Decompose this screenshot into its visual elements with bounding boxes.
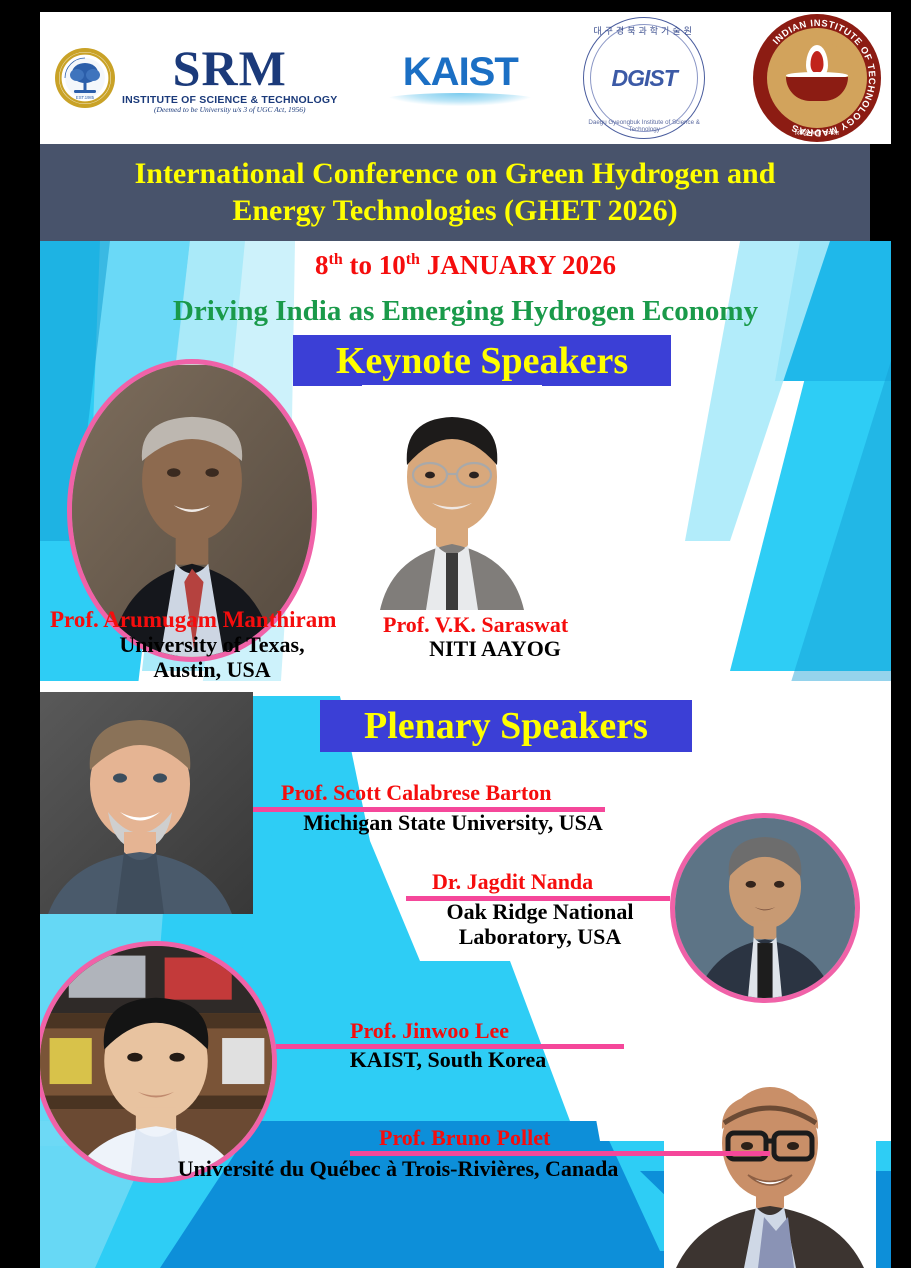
date-suffix: JANUARY 2026	[420, 250, 616, 280]
photo-jinwoo-lee	[40, 941, 277, 1183]
keynote-speakers-banner: Keynote Speakers	[293, 335, 671, 386]
plenary-4-affiliation-line1: Université du Québec à Trois-Rivières, C…	[108, 1157, 688, 1182]
kaist-logo-wordmark: KAIST	[403, 50, 518, 95]
photo-scott-calabrese-barton	[40, 692, 253, 914]
date-prefix: 8	[315, 250, 329, 280]
plenary-2-affiliation-line1: Oak Ridge National	[380, 900, 700, 925]
photo-vk-saraswat	[362, 385, 542, 610]
conference-tagline: Driving India as Emerging Hydrogen Econo…	[40, 295, 891, 328]
srm-logo: EST.1985 SRM INSTITUTE OF SCIENCE & TECH…	[54, 43, 337, 114]
conference-title-banner: International Conference on Green Hydrog…	[40, 144, 870, 241]
plenary-3-name: Prof. Jinwoo Lee	[350, 1018, 509, 1044]
logo-header-band: EST.1985 SRM INSTITUTE OF SCIENCE & TECH…	[40, 12, 891, 144]
keynote-speakers-label: Keynote Speakers	[336, 342, 628, 380]
iitm-motto: सिद्धिर्भवति कर्मजा	[753, 128, 881, 137]
iitm-logo: INDIAN INSTITUTE OF TECHNOLOGY MADRAS सि…	[753, 14, 881, 142]
photo-bruno-pollet	[664, 1071, 876, 1268]
plenary-3-affiliation: KAIST, South Korea	[283, 1048, 613, 1073]
poster-body: 8th to 10th JANUARY 2026 Driving India a…	[40, 241, 891, 1268]
keynote-2-affiliation: NITI AAYOG	[395, 637, 595, 662]
keynote-1-affiliation-line1: University of Texas,	[92, 633, 332, 658]
svg-text:INDIAN INSTITUTE OF TECHNOLOGY: INDIAN INSTITUTE OF TECHNOLOGY MADRAS	[770, 17, 878, 139]
plenary-1-name: Prof. Scott Calabrese Barton	[281, 780, 551, 806]
date-sup1: th	[328, 251, 342, 268]
plenary-4-name: Prof. Bruno Pollet	[379, 1125, 550, 1151]
kaist-swoosh-icon	[385, 93, 535, 106]
date-sup2: th	[406, 251, 420, 268]
jinwoo-portrait-icon	[40, 946, 272, 1178]
srm-logo-deemed-note: (Deemed to be University u/s 3 of UGC Ac…	[154, 106, 306, 114]
barton-portrait-icon	[40, 692, 253, 914]
keynote-2-name: Prof. V.K. Saraswat	[383, 612, 568, 638]
plenary-3-affiliation-line1: KAIST, South Korea	[283, 1048, 613, 1073]
plenary-speakers-label: Plenary Speakers	[364, 707, 648, 745]
keynote-1-affiliation-line2: Austin, USA	[92, 658, 332, 683]
plenary-2-name: Dr. Jagdit Nanda	[432, 869, 593, 895]
plenary-2-affiliation: Oak Ridge National Laboratory, USA	[380, 900, 700, 949]
kaist-logo: KAIST	[385, 50, 535, 106]
conference-title-line2: Energy Technologies (GHET 2026)	[232, 193, 677, 230]
nanda-portrait-icon	[675, 818, 855, 998]
plenary-2-affiliation-line2: Laboratory, USA	[380, 925, 700, 950]
plenary-speakers-banner: Plenary Speakers	[320, 700, 692, 752]
conference-title-line1: International Conference on Green Hydrog…	[135, 156, 776, 193]
date-mid: to 10	[343, 250, 406, 280]
dgist-english-text: Daegu Gyeongbuk Institute of Science & T…	[583, 119, 705, 133]
plenary-1-affiliation-line1: Michigan State University, USA	[253, 811, 653, 836]
saraswat-portrait-icon	[362, 385, 542, 610]
iitm-ring-text-icon: INDIAN INSTITUTE OF TECHNOLOGY MADRAS	[753, 14, 881, 142]
conference-poster: EST.1985 SRM INSTITUTE OF SCIENCE & TECH…	[0, 0, 911, 1268]
plenary-4-affiliation: Université du Québec à Trois-Rivières, C…	[108, 1157, 688, 1182]
srm-seal-icon: EST.1985	[54, 47, 116, 109]
dgist-logo: 대구경북과학기술원 DGIST Daegu Gyeongbuk Institut…	[583, 17, 705, 139]
conference-dates: 8th to 10th JANUARY 2026	[40, 250, 891, 281]
keynote-1-name: Prof. Arumugam Manthiram	[50, 607, 336, 633]
srm-logo-subtitle: INSTITUTE OF SCIENCE & TECHNOLOGY	[122, 95, 337, 106]
plenary-1-affiliation: Michigan State University, USA	[253, 811, 653, 836]
keynote-2-affiliation-line1: NITI AAYOG	[395, 637, 595, 662]
svg-text:EST.1985: EST.1985	[76, 95, 95, 100]
keynote-1-affiliation: University of Texas, Austin, USA	[92, 633, 332, 682]
bruno-portrait-icon	[664, 1071, 876, 1268]
srm-logo-wordmark: SRM	[173, 43, 287, 93]
